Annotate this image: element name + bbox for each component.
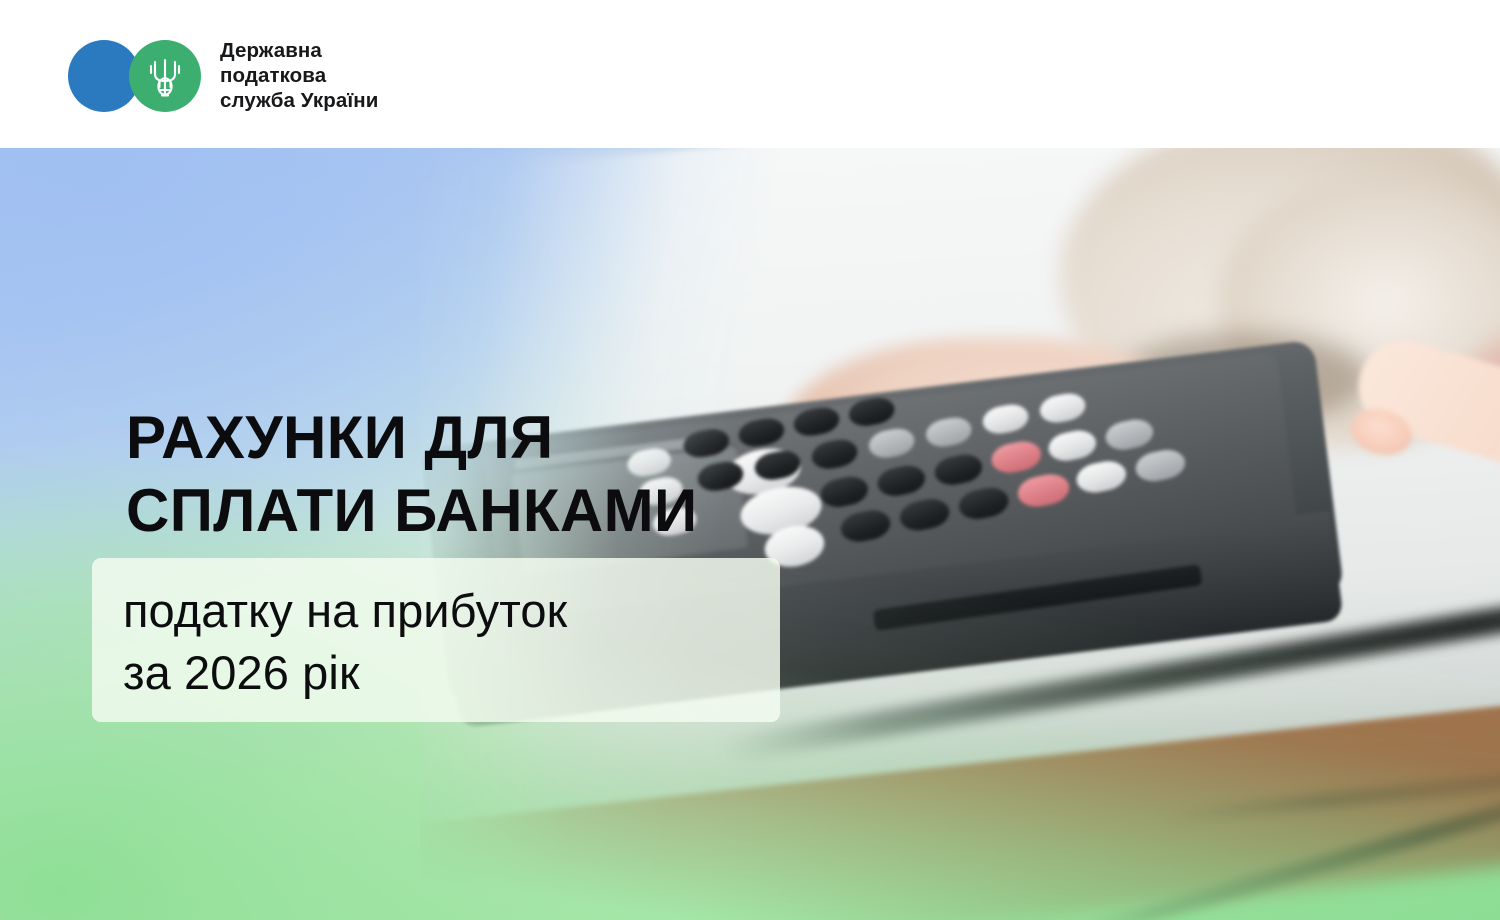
logo-mark	[68, 40, 201, 112]
subtitle-panel: податку на прибуток за 2026 рік	[92, 558, 780, 722]
hero-stage: РАХУНКИ ДЛЯ СПЛАТИ БАНКАМИ податку на пр…	[0, 148, 1500, 920]
org-name-line-2: податкова	[220, 63, 378, 88]
org-name-line-1: Державна	[220, 38, 378, 63]
header-band: Державна податкова служба України	[0, 0, 1500, 148]
ukraine-trident-icon	[129, 40, 201, 112]
tax-service-banner: Державна податкова служба України	[0, 0, 1500, 920]
headline-line-2: СПЛАТИ БАНКАМИ	[126, 474, 698, 547]
org-name-line-3: служба України	[220, 88, 378, 113]
organization-name: Державна податкова служба України	[220, 38, 378, 113]
page-title: РАХУНКИ ДЛЯ СПЛАТИ БАНКАМИ	[126, 401, 698, 547]
subtitle-line-1: податку на прибуток	[123, 580, 567, 642]
headline-line-1: РАХУНКИ ДЛЯ	[126, 401, 698, 474]
subtitle: податку на прибуток за 2026 рік	[123, 580, 567, 704]
subtitle-line-2: за 2026 рік	[123, 642, 567, 704]
organization-logo[interactable]: Державна податкова служба України	[68, 38, 378, 113]
